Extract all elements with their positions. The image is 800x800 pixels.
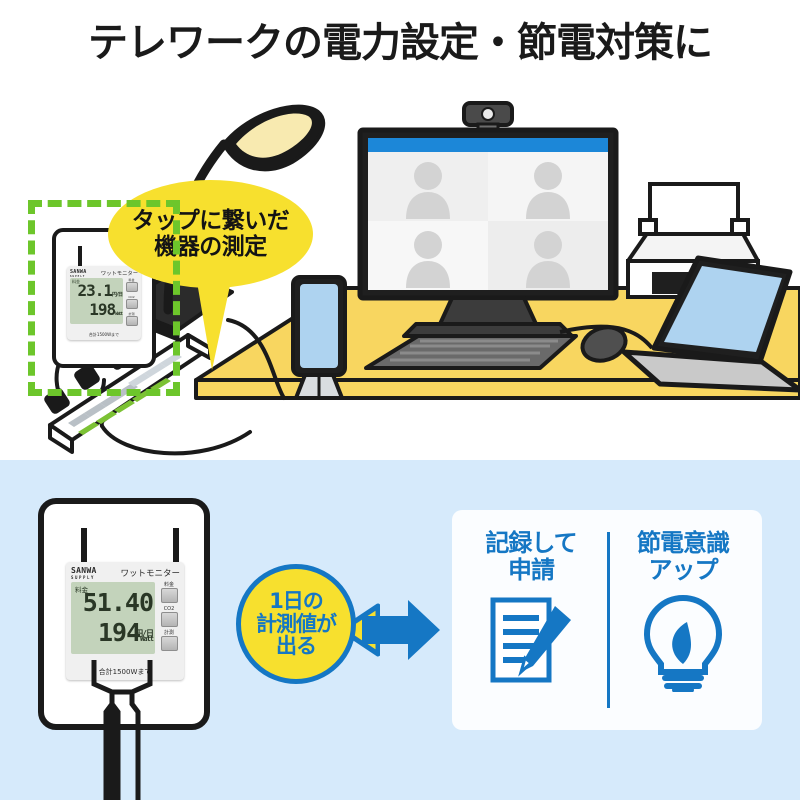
document-pen-icon xyxy=(481,592,581,692)
bubble-line-2: 機器の測定 xyxy=(132,234,290,260)
speech-bubble-tap-measure: タップに繋いだ 機器の測定 xyxy=(108,180,313,288)
lcd-value-2: 198 xyxy=(89,300,115,319)
watt-monitor: SANWA SUPPLY ワットモニター 料金 51.40円/日 194Watt… xyxy=(66,562,184,680)
model-name: ワットモニター xyxy=(101,269,138,277)
lcd-display: 料金 23.1円/日 198Watt xyxy=(70,278,123,324)
benefits-card: 記録して 申請 節電意識 アップ xyxy=(452,510,762,730)
callout-line-2: 計測値が xyxy=(256,613,336,635)
button-measure-key[interactable] xyxy=(126,316,138,326)
button-charge-key[interactable] xyxy=(126,282,138,292)
lcd-row-secondary: 194Watt xyxy=(73,620,153,652)
benefit-energy-awareness: 節電意識 アップ xyxy=(608,510,758,730)
button-co2-label: CO2 xyxy=(158,606,180,612)
brand-logo: SANWA SUPPLY xyxy=(70,269,87,278)
lcd-unit-1: 円/日 xyxy=(112,292,122,298)
brand-sub: SUPPLY xyxy=(71,575,97,580)
page-root: テレワークの電力設定・節電対策に xyxy=(0,0,800,800)
brand-name: SANWA xyxy=(71,566,97,575)
small-watt-monitor: SANWA SUPPLY ワットモニター 料金 23.1円/日 198Watt … xyxy=(67,266,141,340)
button-co2[interactable]: CO2 xyxy=(124,295,139,309)
benefit-left-text: 記録して 申請 xyxy=(485,530,576,584)
benefit-right-line-1: 節電意識 xyxy=(637,530,729,557)
button-column: 料金 CO2 計測 xyxy=(124,278,139,329)
callout-daily-measurement: 1日の 計測値が 出る xyxy=(236,564,356,684)
lcd-unit-2: Watt xyxy=(140,635,153,643)
benefit-right-line-2: アップ xyxy=(637,557,729,584)
button-measure-label: 計測 xyxy=(158,630,180,636)
lcd-value-1: 51.40 xyxy=(83,588,153,617)
capacity-note: 合計1500Wまで xyxy=(67,332,141,338)
benefit-left-line-2: 申請 xyxy=(485,557,576,584)
lcd-unit-2: Watt xyxy=(115,312,122,317)
button-measure-key[interactable] xyxy=(161,636,178,651)
lightbulb-leaf-icon xyxy=(633,592,733,692)
lcd-value-2: 194 xyxy=(98,618,140,647)
benefit-left-line-1: 記録して xyxy=(485,530,576,557)
benefit-right-text: 節電意識 アップ xyxy=(637,530,729,584)
button-co2-key[interactable] xyxy=(161,612,178,627)
callout-text: 1日の 計測値が 出る xyxy=(256,590,336,657)
button-co2[interactable]: CO2 xyxy=(158,606,180,627)
button-co2-key[interactable] xyxy=(126,299,138,309)
speech-bubble-text: タップに繋いだ 機器の測定 xyxy=(132,208,290,260)
lcd-value-1: 23.1 xyxy=(77,281,112,300)
button-charge[interactable]: 料金 xyxy=(158,582,180,603)
button-charge[interactable]: 料金 xyxy=(124,278,139,292)
capacity-note: 合計1500Wまで xyxy=(66,667,184,677)
button-column: 料金 CO2 計測 xyxy=(158,582,180,654)
wall-outlet-plate-large: SANWA SUPPLY ワットモニター 料金 51.40円/日 194Watt… xyxy=(38,498,210,730)
callout-line-3: 出る xyxy=(256,635,336,657)
model-name: ワットモニター xyxy=(120,567,180,579)
benefit-record-apply: 記録して 申請 xyxy=(456,510,606,730)
page-title: テレワークの電力設定・節電対策に xyxy=(0,10,800,68)
lcd-display: 料金 51.40円/日 194Watt xyxy=(71,582,155,654)
bubble-line-1: タップに繋いだ xyxy=(132,208,290,234)
button-charge-label: 料金 xyxy=(158,582,180,588)
button-measure[interactable]: 計測 xyxy=(158,630,180,651)
lcd-row-secondary: 198Watt xyxy=(72,302,122,323)
brand-logo: SANWA SUPPLY xyxy=(71,566,97,580)
button-charge-key[interactable] xyxy=(161,588,178,603)
callout-line-1: 1日の xyxy=(256,590,336,612)
button-measure[interactable]: 計測 xyxy=(124,312,139,326)
